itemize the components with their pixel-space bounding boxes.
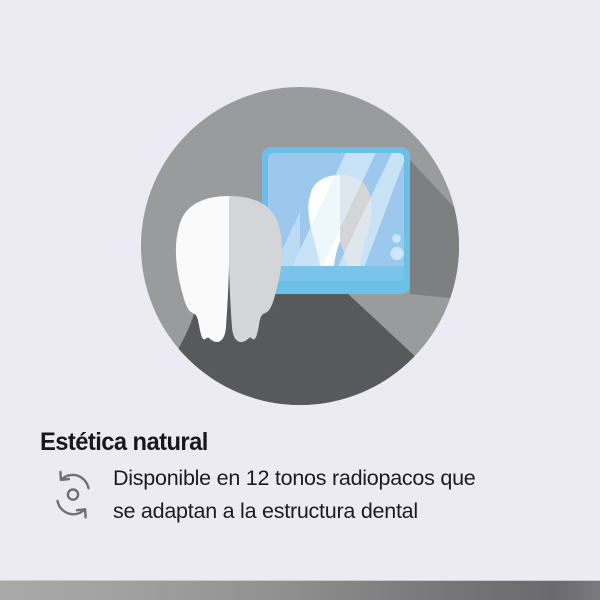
body-line-1: Disponible en 12 tonos radiopacos que [113,462,543,495]
body-line-2: se adaptan a la estructura dental [113,495,543,528]
xray-screen [258,140,412,300]
indicator-dot-large [390,247,403,260]
indicator-dot-small [392,234,400,242]
slide-canvas: Estética natural Disponible en 12 tonos … [0,0,600,600]
screen-footer-band [268,266,404,282]
dental-xray-illustration [0,0,600,420]
feature-body-copy: Disponible en 12 tonos radiopacos que se… [113,462,543,528]
bottom-gradient-bar [0,581,600,600]
feature-text-block: Estética natural Disponible en 12 tonos … [0,420,600,580]
rotation-cycle-icon [44,466,102,524]
feature-heading: Estética natural [40,428,208,457]
